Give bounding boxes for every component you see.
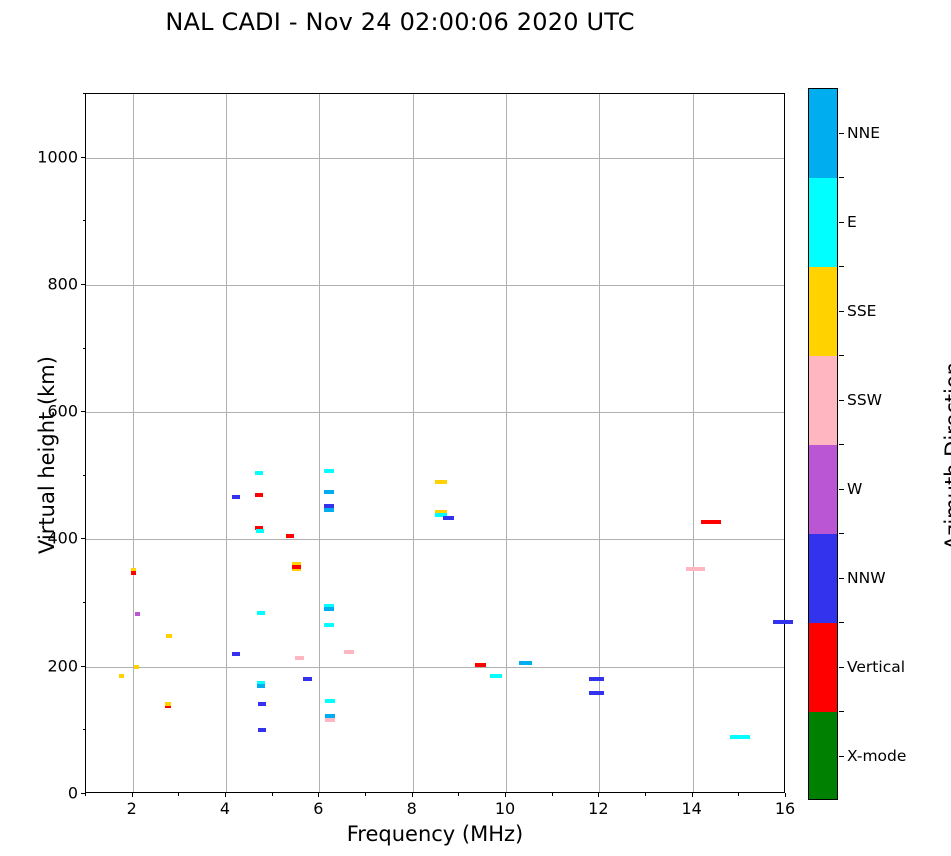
y-axis-minor-tick xyxy=(83,220,86,221)
data-mark xyxy=(324,469,334,473)
colorbar-segment-nne xyxy=(809,89,837,178)
x-axis-tick-label: 6 xyxy=(313,799,323,818)
data-mark xyxy=(295,656,304,660)
data-mark xyxy=(773,620,793,624)
data-mark xyxy=(701,520,721,524)
colorbar-segment-x-mode xyxy=(809,712,837,800)
colorbar-label-tick xyxy=(839,667,844,668)
colorbar-label-sse: SSE xyxy=(847,302,876,320)
colorbar-label-nnw: NNW xyxy=(847,569,886,587)
colorbar-label-tick xyxy=(839,222,844,223)
x-axis-tick-label: 8 xyxy=(407,799,417,818)
data-mark xyxy=(134,665,140,669)
data-mark xyxy=(258,702,266,706)
gridline-vertical xyxy=(133,94,134,792)
data-mark xyxy=(686,567,706,571)
gridline-horizontal xyxy=(86,285,784,286)
data-mark xyxy=(292,565,301,569)
colorbar-segment-ssw xyxy=(809,356,837,445)
data-mark xyxy=(475,663,487,667)
data-mark xyxy=(589,691,604,695)
x-axis-minor-tick xyxy=(458,793,459,796)
data-mark xyxy=(255,471,263,475)
y-axis-tick xyxy=(81,284,85,285)
colorbar-label-vertical: Vertical xyxy=(847,658,905,676)
gridline-vertical xyxy=(319,94,320,792)
data-mark xyxy=(303,677,312,681)
gridline-horizontal xyxy=(86,667,784,668)
data-mark xyxy=(119,674,125,678)
colorbar-title: Azimuth Direction xyxy=(941,286,951,626)
x-axis-tick-label: 4 xyxy=(220,799,230,818)
data-mark xyxy=(519,661,532,665)
colorbar-segment-e xyxy=(809,178,837,267)
colorbar-label-tick xyxy=(839,489,844,490)
colorbar-boundary-tick xyxy=(839,622,844,623)
y-axis-tick xyxy=(81,793,85,794)
x-axis-tick-label: 14 xyxy=(681,799,701,818)
x-axis-tick xyxy=(785,793,786,797)
y-axis-tick-label: 200 xyxy=(47,656,78,675)
colorbar-label-tick xyxy=(839,400,844,401)
x-axis-tick-label: 10 xyxy=(495,799,515,818)
x-axis-tick xyxy=(318,793,319,797)
x-axis-tick xyxy=(598,793,599,797)
data-mark xyxy=(325,699,335,703)
data-mark xyxy=(166,634,172,638)
y-axis-minor-tick xyxy=(83,602,86,603)
data-mark xyxy=(324,508,334,512)
page-title: NAL CADI - Nov 24 02:00:06 2020 UTC xyxy=(0,8,800,36)
y-axis-tick xyxy=(81,538,85,539)
colorbar-label-tick xyxy=(839,311,844,312)
colorbar-segment-nnw xyxy=(809,534,837,623)
data-mark xyxy=(730,735,750,739)
colorbar-label-tick xyxy=(839,578,844,579)
colorbar-boundary-tick xyxy=(839,444,844,445)
data-mark xyxy=(232,495,239,499)
colorbar-boundary-tick xyxy=(839,266,844,267)
data-mark xyxy=(324,623,334,627)
y-axis-minor-tick xyxy=(83,348,86,349)
x-axis-tick xyxy=(412,793,413,797)
colorbar-boundary-tick xyxy=(839,177,844,178)
colorbar-label-e: E xyxy=(847,213,857,231)
data-mark xyxy=(135,612,140,616)
x-axis-tick xyxy=(505,793,506,797)
colorbar-label-tick xyxy=(839,133,844,134)
x-axis-minor-tick xyxy=(365,793,366,796)
y-axis-minor-tick xyxy=(83,729,86,730)
x-axis-minor-tick xyxy=(552,793,553,796)
colorbar-label-tick xyxy=(839,756,844,757)
plot-canvas xyxy=(86,94,784,792)
data-mark xyxy=(257,684,265,688)
x-axis-tick xyxy=(225,793,226,797)
colorbar-segment-w xyxy=(809,445,837,534)
data-mark xyxy=(165,702,171,706)
data-mark xyxy=(257,611,265,615)
x-axis-tick-label: 12 xyxy=(588,799,608,818)
data-mark xyxy=(255,493,263,497)
x-axis-minor-tick xyxy=(178,793,179,796)
colorbar-label-ssw: SSW xyxy=(847,391,882,409)
y-axis-tick-label: 1000 xyxy=(37,147,78,166)
y-axis-tick xyxy=(81,157,85,158)
gridline-vertical xyxy=(413,94,414,792)
x-axis-tick xyxy=(132,793,133,797)
y-axis-minor-tick xyxy=(83,93,86,94)
x-axis-label: Frequency (MHz) xyxy=(85,822,785,846)
data-mark xyxy=(435,480,448,484)
x-axis-minor-tick xyxy=(85,793,86,796)
x-axis-tick xyxy=(692,793,693,797)
colorbar-label-w: W xyxy=(847,480,862,498)
colorbar-boundary-tick xyxy=(839,711,844,712)
data-mark xyxy=(589,677,604,681)
data-mark xyxy=(258,728,266,732)
y-axis-tick xyxy=(81,666,85,667)
y-axis-tick-label: 0 xyxy=(68,784,78,803)
data-mark xyxy=(490,674,502,678)
colorbar-boundary-tick xyxy=(839,355,844,356)
data-mark xyxy=(324,490,334,494)
gridline-horizontal xyxy=(86,158,784,159)
colorbar-segment-vertical xyxy=(809,623,837,712)
data-mark xyxy=(344,650,354,654)
gridline-vertical xyxy=(226,94,227,792)
gridline-vertical xyxy=(693,94,694,792)
data-mark xyxy=(131,571,136,575)
data-mark xyxy=(324,607,334,611)
colorbar-label-nne: NNE xyxy=(847,124,880,142)
colorbar-boundary-tick xyxy=(839,533,844,534)
data-mark xyxy=(232,652,239,656)
data-mark xyxy=(256,529,264,533)
data-mark xyxy=(325,718,335,722)
x-axis-minor-tick xyxy=(645,793,646,796)
gridline-vertical xyxy=(506,94,507,792)
data-mark xyxy=(443,516,455,520)
x-axis-minor-tick xyxy=(738,793,739,796)
x-axis-minor-tick xyxy=(272,793,273,796)
data-mark xyxy=(286,534,294,538)
x-axis-tick-label: 16 xyxy=(775,799,795,818)
gridline-vertical xyxy=(599,94,600,792)
colorbar-label-x-mode: X-mode xyxy=(847,747,906,765)
colorbar xyxy=(808,88,838,800)
gridline-horizontal xyxy=(86,539,784,540)
gridline-horizontal xyxy=(86,412,784,413)
y-axis-tick xyxy=(81,411,85,412)
x-axis-tick-label: 2 xyxy=(127,799,137,818)
y-axis-label: Virtual height (km) xyxy=(35,275,59,635)
colorbar-segment-sse xyxy=(809,267,837,356)
y-axis-minor-tick xyxy=(83,475,86,476)
plot-area xyxy=(85,93,785,793)
